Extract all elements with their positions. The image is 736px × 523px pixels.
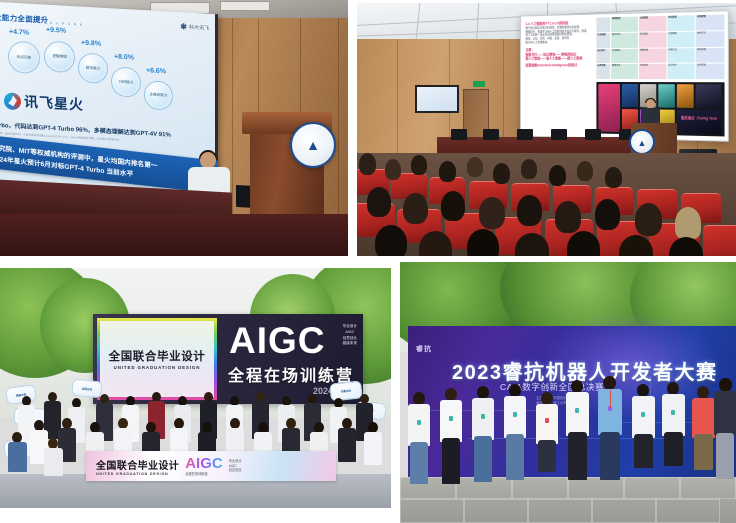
audience-member bbox=[675, 207, 701, 239]
backdrop-title-en: UNITED GRADUATION DESIGN bbox=[114, 365, 201, 370]
table-row-label: 核心能力 bbox=[596, 49, 610, 64]
table-cell: 设计创作 bbox=[667, 64, 695, 79]
table-header-cell: 创造智能 bbox=[667, 15, 695, 31]
slide-body-line: 能力的人工智能体系。 bbox=[526, 41, 590, 46]
audience-member bbox=[577, 161, 593, 181]
audience-member bbox=[517, 195, 542, 226]
desk-monitor bbox=[483, 129, 499, 140]
banner-title-block: 全国联合毕业设计 UNITED GRADUATION DESIGN bbox=[96, 457, 179, 476]
slide-comparison-table: 感知智能 认知智能 创造智能 决策智能 技术基础 模式识别 知识图谱 生成模型 … bbox=[596, 14, 724, 79]
banner-aigc-block: AIGC 全程在场训练营 bbox=[185, 455, 223, 477]
desk-monitor bbox=[451, 129, 467, 140]
front-desk bbox=[0, 214, 348, 256]
audience-member bbox=[367, 187, 391, 217]
seal-emblem-icon: ▲ bbox=[303, 135, 323, 155]
side-line: 创意创业 bbox=[229, 468, 242, 473]
backdrop-side-lines: 毕业设计 AIGC 创意创业 链接未来 bbox=[343, 324, 357, 347]
rainbow-panel-inner: 全国联合毕业设计 UNITED GRADUATION DESIGN bbox=[100, 321, 214, 397]
pavement-tile bbox=[568, 477, 624, 499]
audience-member bbox=[441, 191, 465, 221]
pavement-tile bbox=[400, 499, 464, 523]
brand-name: 科大讯飞 bbox=[189, 24, 209, 32]
slide-text-column: 1.4 人工智能的4个1.0-2.0的阶段 数字技术和信息技术的协同，生物智能的… bbox=[526, 21, 590, 134]
pavement-tile bbox=[592, 499, 656, 523]
hand-sign: 创意创业 bbox=[329, 380, 363, 401]
ceiling-panel bbox=[220, 1, 270, 11]
exit-sign-icon bbox=[473, 81, 485, 87]
table-header-cell: 认知智能 bbox=[639, 16, 666, 32]
table-row-label: 应用场景 bbox=[596, 64, 610, 79]
side-line: 毕业设计 bbox=[229, 459, 242, 464]
table-cell: 规划决策 bbox=[696, 47, 725, 63]
rainbow-panel: 全国联合毕业设计 UNITED GRADUATION DESIGN bbox=[97, 318, 217, 400]
audience-member bbox=[595, 199, 620, 230]
iflytek-spark-logo: 讯飞星火 bbox=[4, 90, 84, 114]
metric-delta: +9.8% bbox=[81, 40, 101, 48]
photo-auditorium-ai-lecture[interactable]: 1.4 人工智能的4个1.0-2.0的阶段 数字技术和信息技术的协同，生物智能的… bbox=[357, 3, 736, 256]
side-line: 毕业设计 bbox=[343, 324, 357, 330]
banner-title-cn: 全国联合毕业设计 bbox=[96, 457, 179, 472]
backdrop-aigc-wordmark: AIGC bbox=[229, 322, 326, 359]
audience-member bbox=[411, 155, 427, 175]
slide-thumb bbox=[622, 84, 638, 107]
audience-member bbox=[493, 163, 510, 184]
banner-side-lines: 毕业设计 AIGC 创意创业 bbox=[229, 459, 242, 473]
hand-sign: 全程在场 bbox=[71, 378, 103, 398]
audience-member bbox=[555, 201, 581, 233]
photo-caia-robot-contest-group[interactable]: 睿抗 2023睿抗机器人开发者大赛 CAIA数字创新全国总决赛 主办单位：中国自… bbox=[400, 262, 736, 523]
audience-member bbox=[439, 161, 456, 182]
university-seal: ▲ bbox=[290, 122, 336, 168]
photo-iflytek-spark-lecture[interactable]: 大能力全面提升 ✱ 科大讯飞 知识问答 逻辑推理 数学能力 代码能力 多模态能力… bbox=[0, 0, 348, 256]
metric-bubble: 数学能力 bbox=[78, 52, 108, 84]
turing-test-label: 图灵测试（Turing Test） bbox=[681, 115, 719, 121]
banner-title-en: UNITED GRADUATION DESIGN bbox=[96, 472, 179, 476]
table-cell: 问答检索 bbox=[639, 64, 666, 79]
table-cell: 图像语音 bbox=[611, 64, 638, 79]
table-header-cell: 感知智能 bbox=[611, 17, 638, 32]
auditorium-seat bbox=[703, 225, 736, 256]
slide-red-line: 弱人工智能——强人工智能——超人工智能 bbox=[526, 57, 590, 62]
brand-glyph: ✱ bbox=[180, 22, 187, 31]
badge bbox=[513, 412, 517, 417]
contest-logo: 睿抗 bbox=[416, 344, 432, 354]
metric-bubble: 代码能力 bbox=[111, 66, 141, 98]
table-cell: 生成模型 bbox=[667, 31, 695, 47]
badge bbox=[641, 412, 645, 417]
audience-member bbox=[403, 193, 428, 224]
slide-thumb bbox=[677, 110, 721, 135]
slide-thumb bbox=[696, 84, 722, 108]
metric-delta: +9.5% bbox=[46, 27, 66, 35]
table-cell: 识别感知 bbox=[611, 48, 638, 63]
badge bbox=[575, 408, 579, 413]
desk-monitor bbox=[585, 129, 601, 140]
table-cell: 理解推理 bbox=[639, 48, 666, 63]
iflytek-brand-mark: ✱ 科大讯飞 bbox=[180, 22, 209, 33]
projection-screen: 1.4 人工智能的4个1.0-2.0的阶段 数字技术和信息技术的协同，生物智能的… bbox=[520, 10, 729, 142]
table-row-label: 技术基础 bbox=[596, 33, 610, 48]
table-cell: 模式识别 bbox=[611, 32, 638, 47]
audience-member bbox=[359, 153, 376, 175]
slide-thumb bbox=[598, 84, 620, 132]
photo-collage: 大能力全面提升 ✱ 科大讯飞 知识问答 逻辑推理 数学能力 代码能力 多模态能力… bbox=[0, 0, 736, 523]
spark-flame-icon bbox=[4, 92, 21, 110]
side-line: 链接未来 bbox=[343, 341, 357, 347]
audience-member bbox=[385, 159, 401, 180]
banner-sub-cn: 全程在场训练营 bbox=[185, 472, 223, 477]
side-monitor bbox=[415, 85, 459, 113]
table-cell: 内容生成 bbox=[667, 48, 695, 63]
logo-text-cn: 讯飞星火 bbox=[24, 91, 84, 114]
slide-red-line: 延展智能Extended Intelligence的探讨 bbox=[526, 63, 590, 68]
metric-delta: +8.0% bbox=[114, 53, 134, 61]
desk-monitor bbox=[517, 129, 533, 140]
lanyard bbox=[610, 390, 611, 408]
pavement-tile bbox=[624, 477, 680, 499]
badge bbox=[545, 418, 549, 423]
audience-member bbox=[521, 159, 537, 179]
pavement-tile bbox=[512, 477, 568, 499]
audience-member bbox=[605, 167, 622, 188]
audience-member bbox=[375, 225, 407, 256]
metric-bubble: 多模态能力 bbox=[144, 80, 173, 111]
badge bbox=[481, 414, 485, 419]
audience-member bbox=[479, 197, 505, 229]
metric-bubble: 逻辑推理 bbox=[44, 41, 75, 74]
badge bbox=[671, 410, 675, 415]
metric-bubble: 知识问答 bbox=[8, 41, 40, 75]
pavement-tile bbox=[680, 477, 736, 499]
table-cell: 强化学习 bbox=[696, 31, 725, 47]
table-cell: 自动控制 bbox=[696, 64, 725, 79]
audience-member bbox=[549, 165, 566, 186]
desk-monitor bbox=[551, 129, 567, 140]
slide-thumb bbox=[677, 84, 694, 108]
audience-member bbox=[467, 157, 483, 177]
pavement-tile bbox=[656, 499, 720, 523]
badge bbox=[449, 416, 453, 421]
table-cell: 知识图谱 bbox=[639, 32, 666, 47]
photo-aigc-graduation-group[interactable]: 全国联合毕业设计 UNITED GRADUATION DESIGN AIGC 毕… bbox=[0, 268, 391, 508]
front-banner: 全国联合毕业设计 UNITED GRADUATION DESIGN AIGC 全… bbox=[86, 451, 336, 481]
projection-screen: 大能力全面提升 ✱ 科大讯飞 知识问答 逻辑推理 数学能力 代码能力 多模态能力… bbox=[0, 2, 218, 201]
banner-aigc-wordmark: AIGC bbox=[185, 455, 223, 472]
pavement-tile bbox=[528, 499, 592, 523]
university-seal: ▲ bbox=[629, 129, 655, 155]
logo-text-en: I F L Y T E K S P A R K bbox=[16, 19, 84, 27]
badge bbox=[417, 420, 421, 425]
metric-delta: +4.7% bbox=[9, 29, 29, 37]
table-header-cell: 决策智能 bbox=[696, 14, 725, 30]
pavement-tile bbox=[464, 499, 528, 523]
backdrop-title-cn: 全国联合毕业设计 bbox=[109, 348, 206, 364]
metric-delta: +6.6% bbox=[146, 67, 166, 75]
event-backdrop-board: 全国联合毕业设计 UNITED GRADUATION DESIGN AIGC 毕… bbox=[93, 314, 363, 404]
table-header-cell bbox=[596, 17, 610, 32]
audience-member bbox=[635, 203, 662, 236]
